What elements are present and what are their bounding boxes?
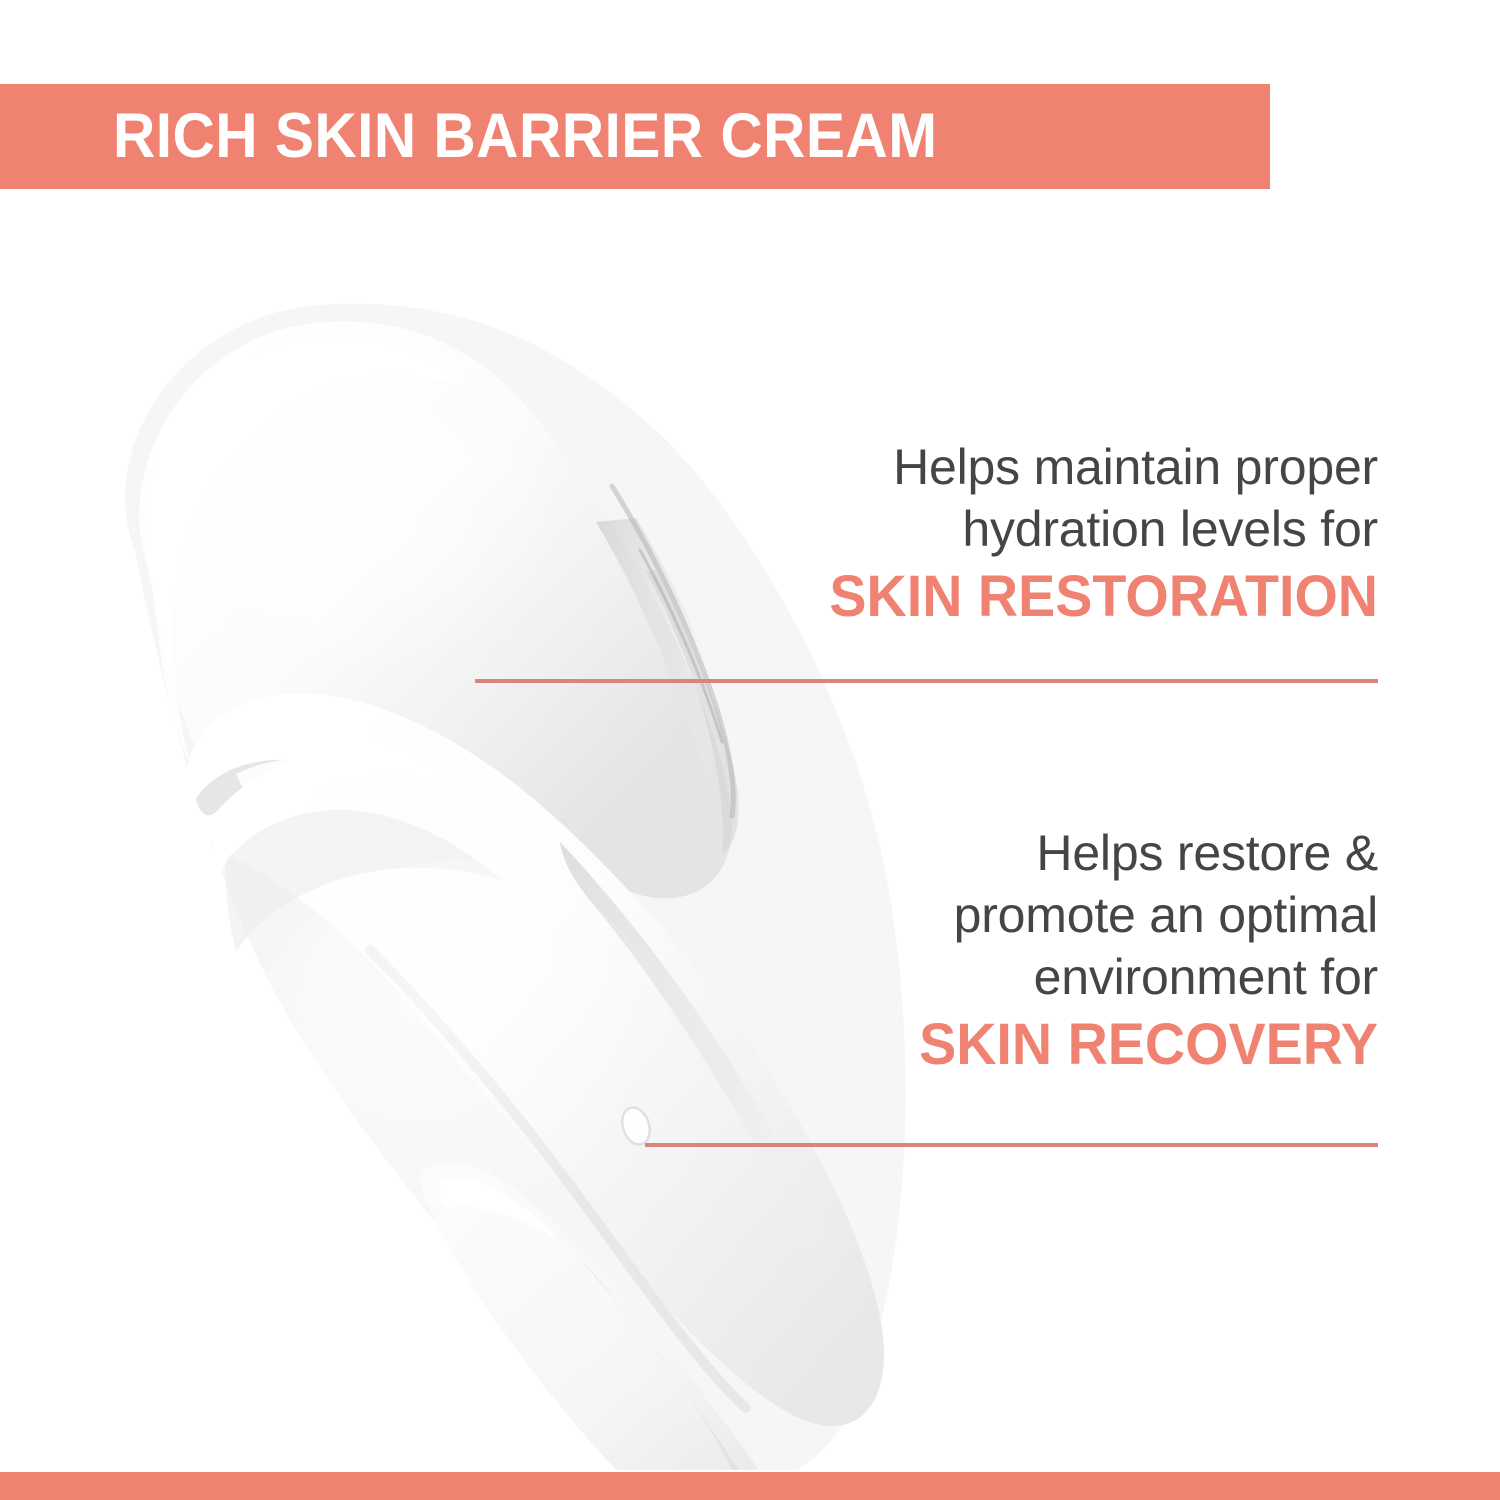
claim-block-1: Helps maintain proper hydration levels f… — [718, 436, 1378, 634]
claim-1-line-2: hydration levels for — [718, 498, 1378, 560]
claim-1-line-1: Helps maintain proper — [718, 436, 1378, 498]
cream-tail — [421, 1163, 775, 1470]
claim-2-emphasis: SKIN RECOVERY — [744, 1008, 1378, 1082]
claim-2-line-1: Helps restore & — [718, 822, 1378, 884]
claim-1-emphasis: SKIN RESTORATION — [744, 560, 1378, 634]
claim-2-line-3: environment for — [718, 946, 1378, 1008]
claim-block-2: Helps restore & promote an optimal envir… — [718, 822, 1378, 1082]
page-title: RICH SKIN BARRIER CREAM — [113, 105, 937, 168]
divider-rule-1 — [475, 679, 1378, 683]
claim-2-line-2: promote an optimal — [718, 884, 1378, 946]
cream-upper-lobe — [139, 322, 732, 899]
footer-bar — [0, 1472, 1500, 1500]
header-banner: RICH SKIN BARRIER CREAM — [0, 84, 1270, 189]
divider-rule-2 — [645, 1143, 1378, 1147]
product-feature-graphic: RICH SKIN BARRIER CREAM — [0, 0, 1500, 1500]
